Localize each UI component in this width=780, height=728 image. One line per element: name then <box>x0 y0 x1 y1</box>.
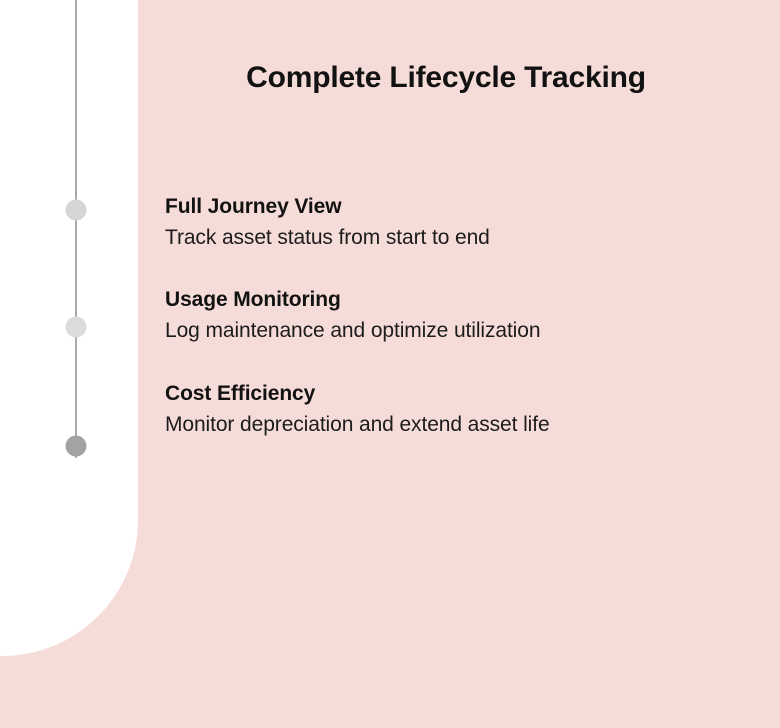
feature-title: Cost Efficiency <box>165 380 765 408</box>
page-title: Complete Lifecycle Tracking <box>138 61 754 94</box>
feature-description: Log maintenance and optimize utilization <box>165 317 765 345</box>
timeline-dot-1[interactable] <box>66 200 87 221</box>
feature-item-usage-monitoring: Usage Monitoring Log maintenance and opt… <box>165 286 765 344</box>
feature-item-full-journey-view: Full Journey View Track asset status fro… <box>165 193 765 251</box>
feature-description: Track asset status from start to end <box>165 224 765 252</box>
timeline-dot-2[interactable] <box>66 317 87 338</box>
feature-description: Monitor depreciation and extend asset li… <box>165 411 765 439</box>
timeline-dot-3[interactable] <box>66 436 87 457</box>
timeline-connector-line <box>75 0 77 458</box>
feature-title: Full Journey View <box>165 193 765 221</box>
feature-item-cost-efficiency: Cost Efficiency Monitor depreciation and… <box>165 380 765 438</box>
slide-canvas: Complete Lifecycle Tracking Full Journey… <box>0 0 780 728</box>
content-area: Complete Lifecycle Tracking Full Journey… <box>138 0 780 728</box>
feature-title: Usage Monitoring <box>165 286 765 314</box>
feature-list: Full Journey View Track asset status fro… <box>165 193 765 438</box>
timeline-rail <box>0 0 138 728</box>
